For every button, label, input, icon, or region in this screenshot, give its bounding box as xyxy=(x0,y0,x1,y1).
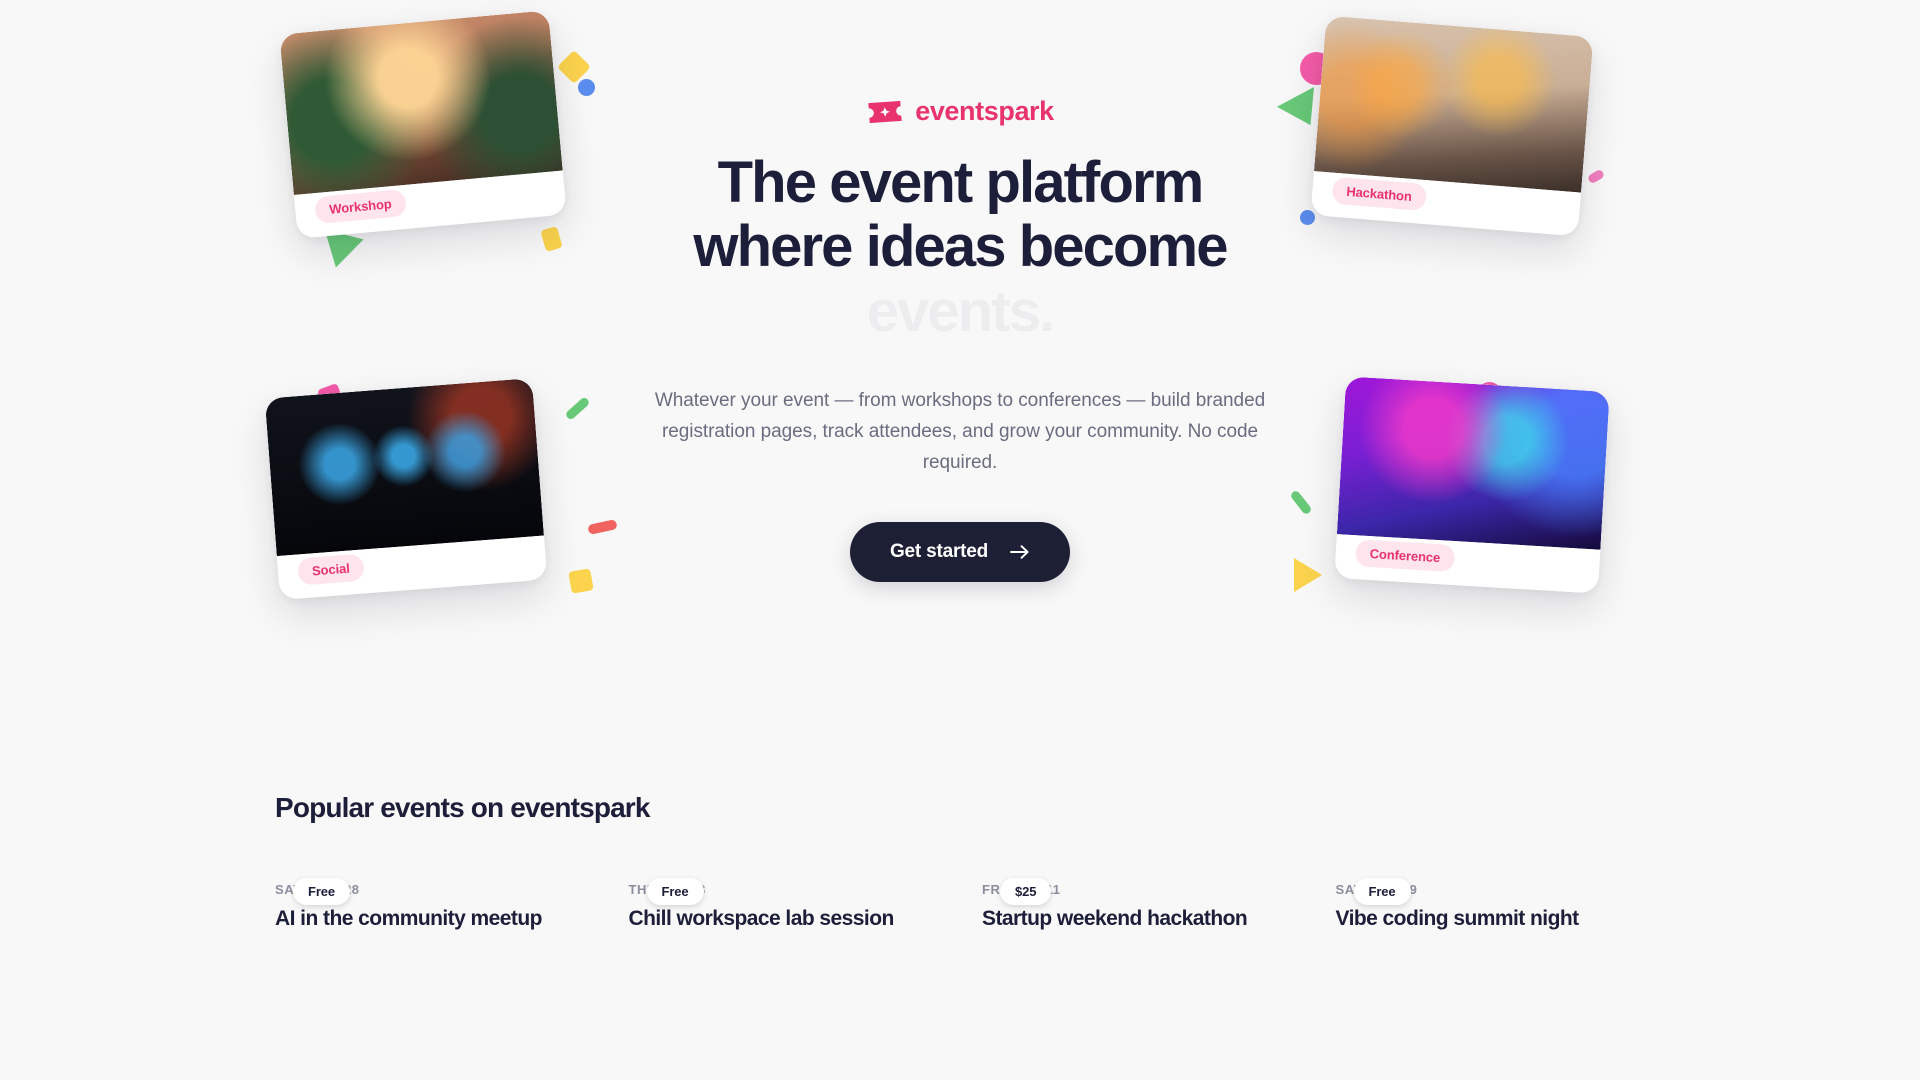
yellow-square-decor-lower xyxy=(568,568,593,593)
headline-line-1: The event platform xyxy=(640,151,1280,215)
event-card[interactable]: $25 FRI, APR 11 Startup weekend hackatho… xyxy=(982,860,1292,932)
yellow-triangle-decor-right xyxy=(1294,558,1322,592)
brand-logo[interactable]: eventspark xyxy=(640,96,1280,127)
showcase-badge: Hackathon xyxy=(1331,177,1426,211)
hero-subcopy: Whatever your event — from workshops to … xyxy=(640,386,1280,478)
popular-events-title: Popular events on eventspark xyxy=(275,760,1645,824)
blue-circle-decor xyxy=(578,79,595,96)
event-card[interactable]: Free SAT, APR 19 Vibe coding summit nigh… xyxy=(1336,860,1646,932)
headline-line-3: events. xyxy=(640,280,1280,344)
popular-events-grid: Free SAT, MAR 28 AI in the community mee… xyxy=(275,860,1645,932)
event-title: Vibe coding summit night xyxy=(1336,906,1646,932)
brand-name: eventspark xyxy=(915,96,1054,127)
showcase-card-workshop[interactable]: Workshop xyxy=(279,10,566,239)
social-photo xyxy=(265,378,544,556)
showcase-badge: Conference xyxy=(1355,539,1455,572)
showcase-card-social[interactable]: Social xyxy=(265,378,548,600)
event-title: AI in the community meetup xyxy=(275,906,585,932)
hackathon-photo xyxy=(1314,16,1594,193)
showcase-card-conference[interactable]: Conference xyxy=(1334,376,1610,593)
hero-section: Workshop Hackathon Social Conference eve… xyxy=(0,0,1920,760)
hero-content: eventspark The event platform where idea… xyxy=(640,96,1280,582)
conference-photo xyxy=(1337,376,1610,549)
get-started-button[interactable]: Get started xyxy=(850,522,1070,582)
red-bar-decor xyxy=(587,519,617,535)
popular-events-section: Popular events on eventspark Free SAT, M… xyxy=(0,760,1920,932)
event-card[interactable]: Free SAT, MAR 28 AI in the community mee… xyxy=(275,860,585,932)
green-bar-decor-right xyxy=(1289,489,1312,515)
event-title: Startup weekend hackathon xyxy=(982,906,1292,932)
blue-dot-decor-lower xyxy=(1300,210,1315,225)
cta-container: Get started xyxy=(640,522,1280,582)
showcase-badge: Workshop xyxy=(314,189,407,224)
ticket-icon xyxy=(866,99,904,125)
headline-line-2: where ideas become xyxy=(640,215,1280,279)
green-bar-decor xyxy=(564,396,590,421)
showcase-card-hackathon[interactable]: Hackathon xyxy=(1310,16,1593,237)
arrow-right-icon xyxy=(1010,544,1030,560)
page-title: The event platform where ideas become ev… xyxy=(640,151,1280,344)
pink-bar-decor-right xyxy=(1587,169,1605,185)
showcase-badge: Social xyxy=(297,554,365,586)
workshop-photo xyxy=(279,10,562,195)
get-started-label: Get started xyxy=(890,541,988,563)
event-card[interactable]: Free THU, APR 3 Chill workspace lab sess… xyxy=(629,860,939,932)
yellow-square-decor xyxy=(540,226,562,252)
event-title: Chill workspace lab session xyxy=(629,906,939,932)
